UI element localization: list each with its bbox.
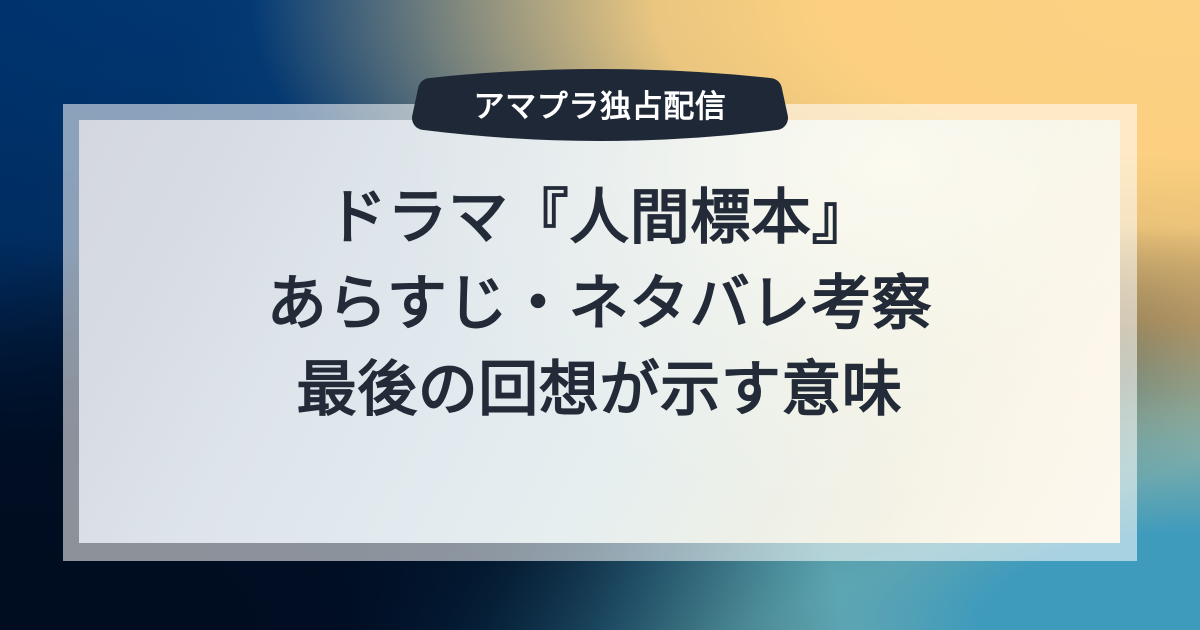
- headline-line-3: 最後の回想が示す意味: [297, 350, 903, 430]
- headline-block: ドラマ『人間標本』 あらすじ・ネタバレ考察 最後の回想が示す意味: [79, 178, 1120, 429]
- headline-line-2: あらすじ・ネタバレ考察: [267, 264, 932, 344]
- headline-line-1: ドラマ『人間標本』: [327, 178, 872, 258]
- eyecatch-canvas: ドラマ『人間標本』 あらすじ・ネタバレ考察 最後の回想が示す意味 アマプラ独占配…: [0, 0, 1200, 630]
- badge-label: アマプラ独占配信: [416, 78, 784, 131]
- exclusive-streaming-badge: アマプラ独占配信: [416, 78, 784, 131]
- content-card: ドラマ『人間標本』 あらすじ・ネタバレ考察 最後の回想が示す意味: [79, 120, 1120, 543]
